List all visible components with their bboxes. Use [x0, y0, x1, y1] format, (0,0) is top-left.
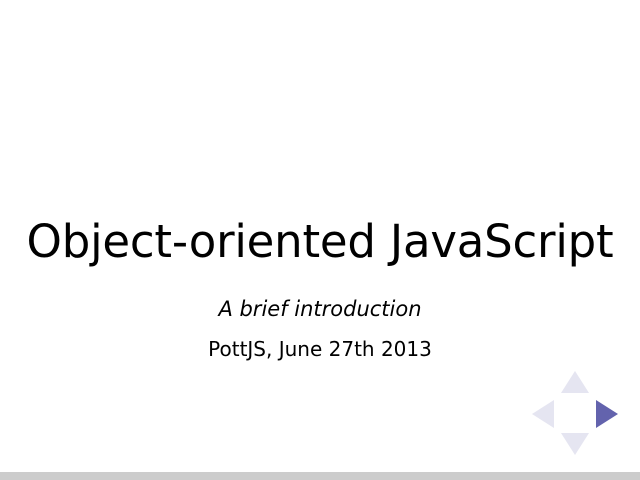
presentation-slide: Object-oriented JavaScript A brief intro…: [0, 0, 640, 480]
date-block: PottJS, June 27th 2013: [0, 337, 640, 361]
page-title: Object-oriented JavaScript: [0, 218, 640, 266]
slide-subtitle: A brief introduction: [0, 297, 640, 322]
subtitle-block: A brief introduction: [0, 297, 640, 322]
triangle-right-icon[interactable]: [596, 400, 618, 428]
bottom-progress-bar: [0, 472, 640, 480]
triangle-up-icon[interactable]: [561, 371, 589, 393]
title-block: Object-oriented JavaScript: [0, 218, 640, 266]
triangle-left-icon[interactable]: [532, 400, 554, 428]
slide-navigation-controls: [531, 369, 619, 457]
triangle-down-icon[interactable]: [561, 433, 589, 455]
event-date-line: PottJS, June 27th 2013: [0, 337, 640, 361]
